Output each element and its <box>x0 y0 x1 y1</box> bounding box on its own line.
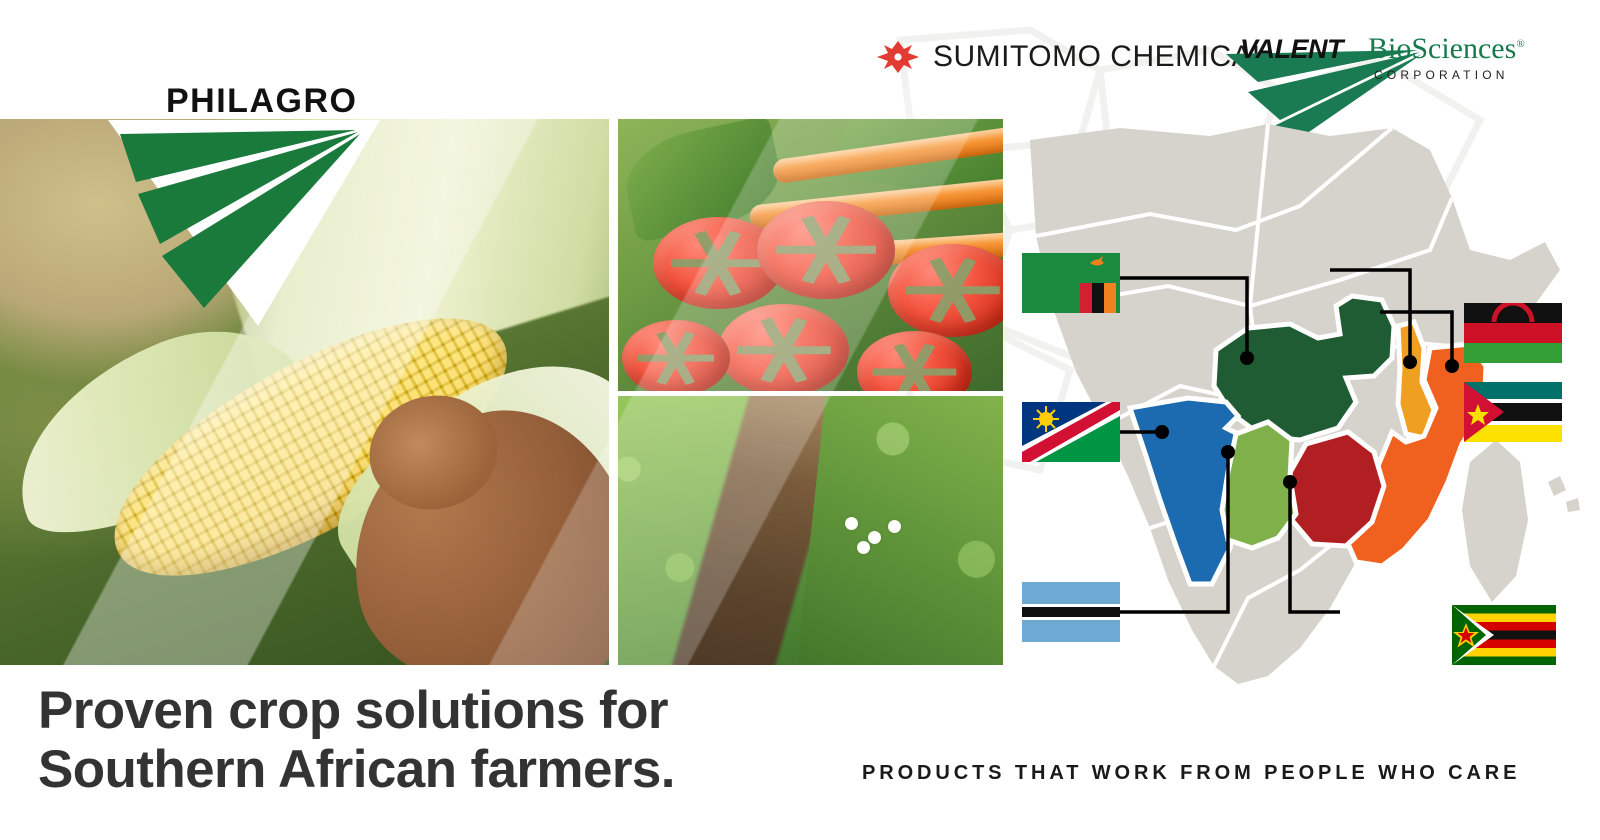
philagro-wordmark: PHILAGRO <box>166 82 357 121</box>
headline-line-2: Southern African farmers. <box>38 740 675 799</box>
dot-zambia <box>1240 351 1254 365</box>
sumitomo-chemical-logo: SUMITOMO CHEMICAL <box>875 36 1269 78</box>
valent-wordmark: VALENT <box>1240 34 1343 65</box>
biosciences-text: BioSciences <box>1368 32 1516 65</box>
biosciences-wordmark: BioSciences® <box>1368 32 1525 66</box>
corporation-wordmark: CORPORATION <box>1374 68 1509 82</box>
dot-malawi <box>1403 355 1417 369</box>
headline-line-1: Proven crop solutions for <box>38 681 675 740</box>
dot-mozambique <box>1445 359 1459 373</box>
philagro-logo: PHILAGRO <box>108 86 386 326</box>
namibia-flag <box>1022 402 1120 462</box>
malawi-flag <box>1464 303 1562 363</box>
registered-mark: ® <box>1516 38 1524 50</box>
dot-namibia <box>1155 425 1169 439</box>
page-title: Proven crop solutions for Southern Afric… <box>38 681 675 800</box>
sumitomo-diamond-icon <box>875 39 921 75</box>
dot-zimbabwe <box>1283 475 1297 489</box>
mozambique-flag <box>1464 382 1562 442</box>
zimbabwe-flag <box>1452 605 1556 665</box>
photo-potato-field-rows <box>618 396 1003 665</box>
tagline: PRODUCTS THAT WORK FROM PEOPLE WHO CARE <box>862 762 1520 785</box>
poster-canvas: PHILAGRO SUMITOMO CHEMICAL VALENT BioSci… <box>0 0 1600 840</box>
botswana-flag <box>1022 582 1120 642</box>
zambia-flag <box>1022 253 1120 313</box>
dot-botswana <box>1221 445 1235 459</box>
philagro-rays-icon <box>108 120 380 326</box>
photo-tomatoes-and-carrots <box>618 119 1003 391</box>
southern-africa-map <box>1000 110 1600 730</box>
sumitomo-wordmark: SUMITOMO CHEMICAL <box>933 40 1269 74</box>
